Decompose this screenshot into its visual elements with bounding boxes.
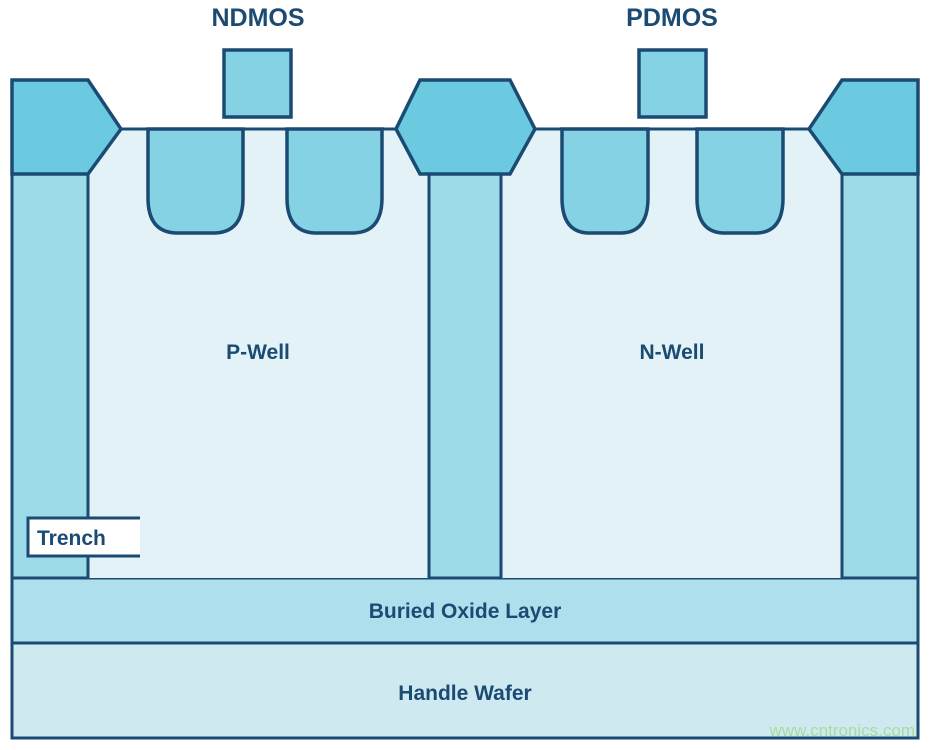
ndmos-source-region	[148, 129, 243, 233]
trench-cap-center	[396, 80, 535, 174]
pdmos-source-region	[562, 129, 648, 233]
n-well-label: N-Well	[640, 341, 705, 364]
ndmos-drain-region	[287, 129, 382, 233]
pdmos-drain-region	[697, 129, 783, 233]
p-well-label: P-Well	[226, 341, 290, 364]
diagram-canvas: NDMOS PDMOS P-Well N-Well Trench Buried …	[0, 0, 930, 750]
cross-section-svg: NDMOS PDMOS P-Well N-Well Trench Buried …	[0, 0, 930, 750]
trench-column-center	[429, 174, 501, 578]
trench-callout-label: Trench	[37, 527, 106, 550]
ndmos-title-label: NDMOS	[211, 4, 304, 32]
buried-oxide-label: Buried Oxide Layer	[369, 600, 562, 623]
pdmos-title-label: PDMOS	[626, 4, 718, 32]
handle-wafer-label: Handle Wafer	[398, 682, 531, 705]
ndmos-gate-electrode	[224, 50, 291, 117]
pdmos-gate-electrode	[639, 50, 706, 117]
watermark-label: www.cntronics.com	[769, 721, 915, 740]
trench-column-right	[842, 174, 918, 578]
